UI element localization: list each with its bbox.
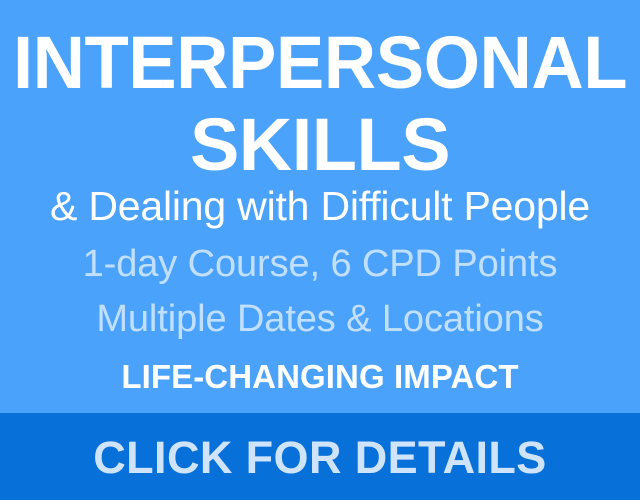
headline-line-2: SKILLS <box>0 108 640 182</box>
course-detail-duration-credits: 1-day Course, 6 CPD Points <box>0 243 640 285</box>
subheadline: & Dealing with Difficult People <box>0 184 640 228</box>
cta-button-label: CLICK FOR DETAILS <box>93 434 546 482</box>
course-detail-dates-locations: Multiple Dates & Locations <box>0 298 640 340</box>
advertisement-banner[interactable]: INTERPERSONAL SKILLS & Dealing with Diff… <box>0 0 640 500</box>
headline-line-1: INTERPERSONAL <box>6 26 633 100</box>
cta-button[interactable]: CLICK FOR DETAILS <box>0 413 640 500</box>
banner-content-area: INTERPERSONAL SKILLS & Dealing with Diff… <box>0 0 640 413</box>
tagline: LIFE-CHANGING IMPACT <box>0 359 640 395</box>
